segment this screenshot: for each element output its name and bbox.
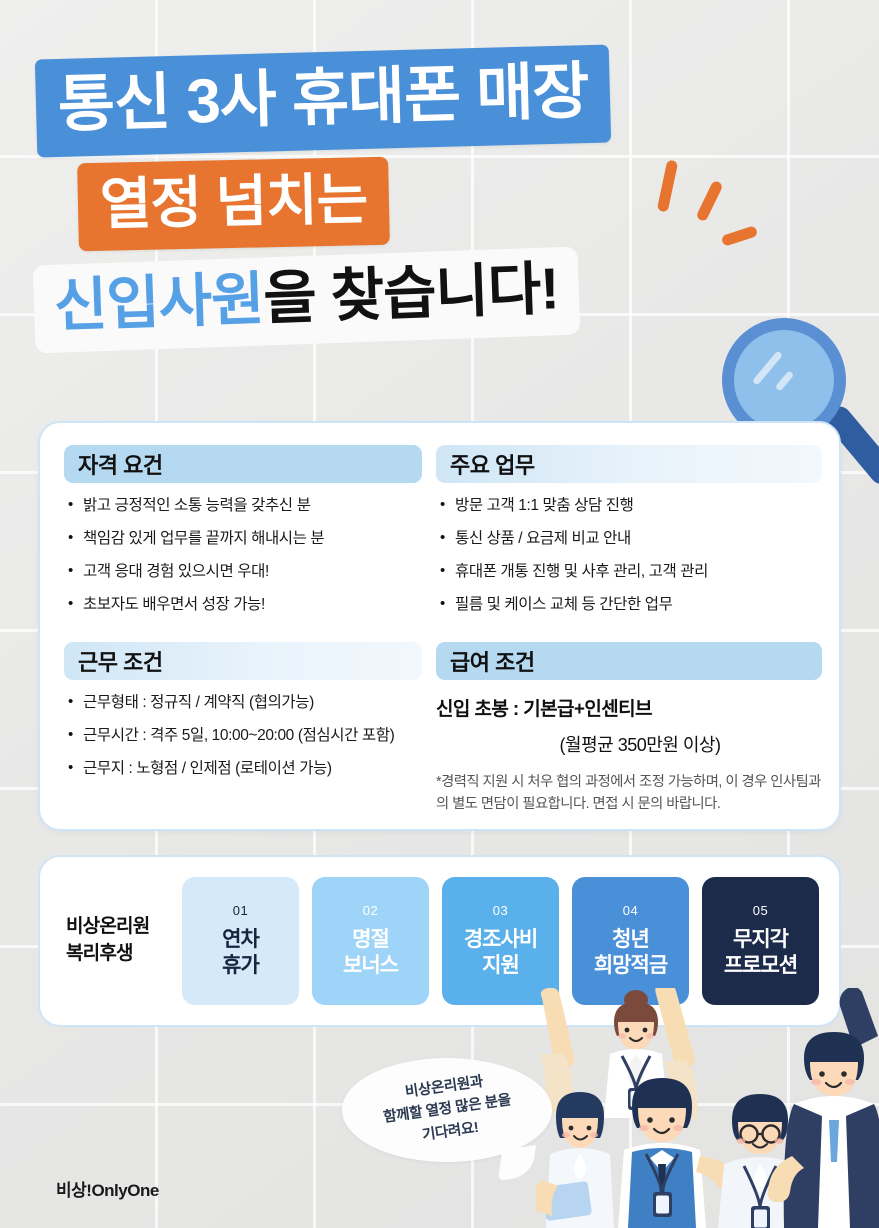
- bubble-line-3: 기다려요!: [421, 1120, 479, 1144]
- benefit-title: 무지각 프로모션: [724, 927, 797, 978]
- section-header-qualifications: 자격 요건: [64, 445, 422, 483]
- benefits-list: 01 연차 휴가 02 명절 보너스 03 경조사비 지원: [182, 877, 819, 1005]
- benefit-title-line-1: 청년: [612, 928, 649, 951]
- info-right-column: 주요 업무 방문 고객 1:1 맞춤 상담 진행 통신 상품 / 요금제 비교 …: [436, 445, 822, 815]
- bubble-line-2: 함께할 열정 많은 분을: [382, 1093, 512, 1127]
- headline-row-1: 통신 3사 휴대폰 매장: [0, 52, 879, 150]
- team-illustration: [536, 988, 879, 1228]
- info-card: 자격 요건 밝고 긍정적인 소통 능력을 갖추신 분 책임감 있게 업무를 끝까…: [38, 421, 841, 831]
- burst-stroke-1: [657, 159, 679, 212]
- magnifier-lens: [734, 330, 834, 430]
- burst-stroke-3: [721, 225, 759, 247]
- list-item: 근무지 : 노형점 / 인제점 (로테이션 가능): [68, 759, 422, 780]
- list-item: 휴대폰 개통 진행 및 사후 관리, 고객 관리: [440, 562, 822, 583]
- qualifications-list: 밝고 긍정적인 소통 능력을 갖추신 분 책임감 있게 업무를 끝까지 해내시는…: [68, 496, 422, 616]
- benefit-card-03: 03 경조사비 지원: [442, 877, 559, 1005]
- section-header-duties: 주요 업무: [436, 445, 822, 483]
- headline-accent-text: 신입사원: [53, 267, 265, 339]
- exclamation-burst-icon: [648, 160, 778, 280]
- benefit-number: 02: [363, 903, 378, 918]
- benefit-card-02: 02 명절 보너스: [312, 877, 429, 1005]
- benefit-card-01: 01 연차 휴가: [182, 877, 299, 1005]
- benefit-title-line-1: 명절: [352, 928, 389, 951]
- salary-sub-text: (월평균 350만원 이상): [436, 731, 822, 757]
- benefit-number: 03: [493, 903, 508, 918]
- list-item: 필름 및 케이스 교체 등 간단한 업무: [440, 595, 822, 616]
- benefit-title-line-1: 경조사비: [464, 928, 537, 951]
- salary-block: 급여 조건 신입 초봉 : 기본급+인센티브 (월평균 350만원 이상) *경…: [436, 642, 822, 815]
- benefit-title: 청년 희망적금: [594, 927, 667, 978]
- list-item: 초보자도 배우면서 성장 가능!: [68, 595, 422, 616]
- conditions-block: 근무 조건 근무형태 : 정규직 / 계약직 (협의가능) 근무시간 : 격주 …: [64, 642, 422, 780]
- list-item: 근무시간 : 격주 5일, 10:00~20:00 (점심시간 포함): [68, 726, 422, 747]
- list-item: 고객 응대 경험 있으시면 우대!: [68, 562, 422, 583]
- benefit-card-05: 05 무지각 프로모션: [702, 877, 819, 1005]
- benefit-number: 05: [753, 903, 768, 918]
- benefits-label: 비상온리원 복리후생: [60, 914, 182, 967]
- burst-stroke-2: [695, 180, 723, 223]
- list-item: 책임감 있게 업무를 끝까지 해내시는 분: [68, 529, 422, 550]
- info-left-column: 자격 요건 밝고 긍정적인 소통 능력을 갖추신 분 책임감 있게 업무를 끝까…: [64, 445, 422, 791]
- headline-rest-text: 을 찾습니다!: [262, 256, 559, 331]
- benefit-title-line-2: 휴가: [222, 954, 259, 977]
- benefit-title-line-1: 연차: [222, 928, 259, 951]
- recruitment-poster: 통신 3사 휴대폰 매장 열정 넘치는 신입사원을 찾습니다! 자격 요건 밝고…: [0, 0, 879, 1228]
- benefit-card-04: 04 청년 희망적금: [572, 877, 689, 1005]
- benefit-title: 연차 휴가: [222, 927, 259, 978]
- speech-bubble: 비상온리원과 함께할 열정 많은 분을 기다려요!: [342, 1058, 552, 1162]
- salary-note-text: *경력직 지원 시 처우 협의 과정에서 조정 가능하며, 이 경우 인사팀과의…: [436, 771, 822, 815]
- benefit-title: 경조사비 지원: [464, 927, 537, 978]
- benefit-number: 04: [623, 903, 638, 918]
- benefit-title-line-1: 무지각: [733, 928, 788, 951]
- benefit-title-line-2: 보너스: [343, 954, 398, 977]
- benefit-title-line-2: 지원: [482, 954, 519, 977]
- conditions-list: 근무형태 : 정규직 / 계약직 (협의가능) 근무시간 : 격주 5일, 10…: [68, 693, 422, 780]
- salary-main-text: 신입 초봉 : 기본급+인센티브: [436, 694, 822, 721]
- brand-logo: 비상!OnlyOne: [56, 1176, 159, 1201]
- headline-line-3: 신입사원을 찾습니다!: [33, 247, 580, 354]
- duties-list: 방문 고객 1:1 맞춤 상담 진행 통신 상품 / 요금제 비교 안내 휴대폰…: [440, 496, 822, 616]
- section-header-salary: 급여 조건: [436, 642, 822, 680]
- headline-line-2: 열정 넘치는: [77, 157, 390, 251]
- benefits-label-line-2: 복리후생: [66, 941, 182, 968]
- benefits-label-line-1: 비상온리원: [66, 914, 182, 941]
- list-item: 방문 고객 1:1 맞춤 상담 진행: [440, 496, 822, 517]
- benefit-title-line-2: 희망적금: [594, 954, 667, 977]
- benefit-number: 01: [233, 903, 248, 918]
- section-header-conditions: 근무 조건: [64, 642, 422, 680]
- list-item: 밝고 긍정적인 소통 능력을 갖추신 분: [68, 496, 422, 517]
- benefit-title: 명절 보너스: [343, 927, 398, 978]
- speech-bubble-text: 비상온리원과 함께할 열정 많은 분을 기다려요!: [379, 1068, 516, 1153]
- list-item: 근무형태 : 정규직 / 계약직 (협의가능): [68, 693, 422, 714]
- list-item: 통신 상품 / 요금제 비교 안내: [440, 529, 822, 550]
- benefit-title-line-2: 프로모션: [724, 954, 797, 977]
- headline-line-1: 통신 3사 휴대폰 매장: [35, 44, 612, 157]
